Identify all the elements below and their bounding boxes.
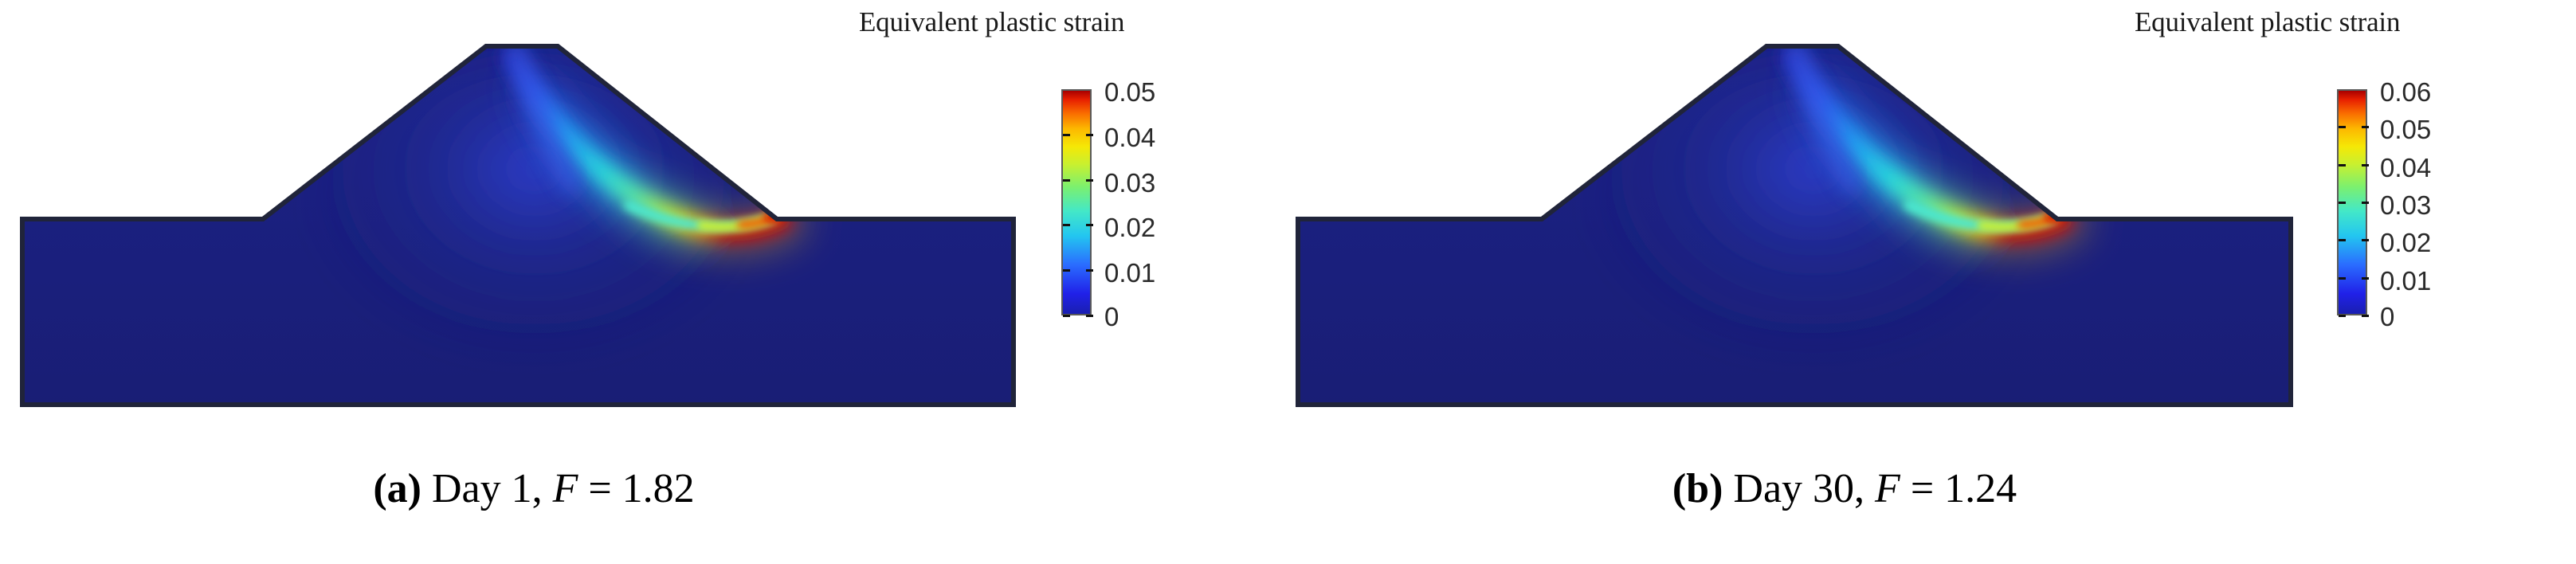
colorbar-label-b-6: 0: [2380, 302, 2394, 332]
panel-caption-a: (a) Day 1, F = 1.82: [0, 465, 1178, 512]
panel-value-b: = 1.24: [1911, 466, 2017, 511]
colorbar-label-b-4: 0.02: [2380, 228, 2431, 258]
colorbar-gradient-a: [1061, 89, 1092, 315]
colorbar-gradient-b: [2337, 89, 2367, 315]
colorbar-title-b: Equivalent plastic strain: [2135, 6, 2400, 38]
colorbar-label-b-0: 0.06: [2380, 77, 2431, 108]
panel-a: Equivalent plastic strain 0.05 0.04 0.03…: [0, 0, 1288, 564]
slope-model-a: [0, 0, 1036, 446]
panel-symbol-b: F: [1875, 466, 1900, 511]
panel-day-b: Day 30,: [1733, 466, 1864, 511]
colorbar-label-b-5: 0.01: [2380, 266, 2431, 296]
panel-caption-b: (b) Day 30, F = 1.24: [1201, 465, 2488, 512]
colorbar-label-a-4: 0.01: [1104, 258, 1155, 288]
colorbar-label-b-3: 0.03: [2380, 190, 2431, 221]
colorbar-label-a-3: 0.02: [1104, 213, 1155, 243]
colorbar-label-a-2: 0.03: [1104, 168, 1155, 198]
colorbar-label-a-1: 0.04: [1104, 123, 1155, 153]
panel-value-a: = 1.82: [588, 466, 694, 511]
colorbar-label-a-0: 0.05: [1104, 77, 1155, 108]
panel-symbol-a: F: [553, 466, 578, 511]
panel-day-a: Day 1,: [432, 466, 543, 511]
colorbar-label-a-5: 0: [1104, 302, 1119, 332]
colorbar-label-b-1: 0.05: [2380, 115, 2431, 145]
colorbar-title-a: Equivalent plastic strain: [859, 6, 1124, 38]
figure-root: Equivalent plastic strain 0.05 0.04 0.03…: [0, 0, 2576, 564]
panel-b: Equivalent plastic strain 0.06 0.05 0.04…: [1288, 0, 2576, 564]
panel-label-a: (a): [373, 466, 421, 511]
colorbar-label-b-2: 0.04: [2380, 153, 2431, 183]
panel-label-b: (b): [1672, 466, 1723, 511]
slope-model-b: [1288, 0, 2324, 446]
